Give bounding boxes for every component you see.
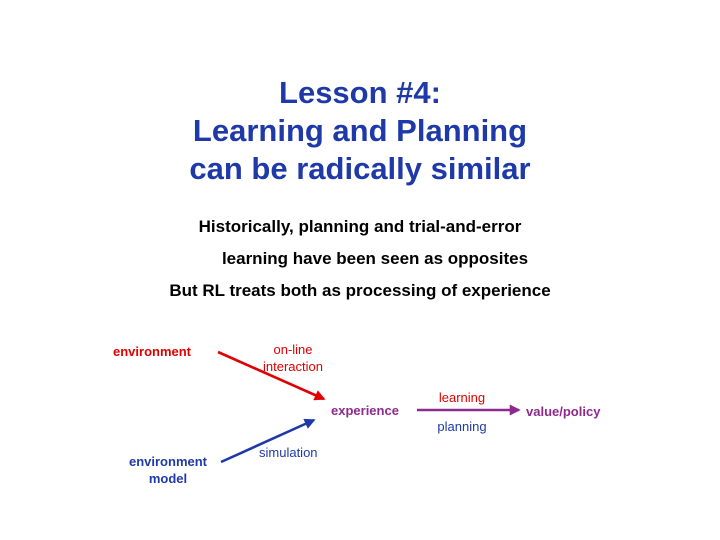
- edge-label-simulation: simulation: [259, 444, 318, 461]
- edge-label-online-interaction-line2: interaction: [247, 358, 339, 375]
- edge-label-online-interaction: on-line interaction: [247, 341, 339, 375]
- node-label-environment-model: environment model: [113, 453, 223, 487]
- edge-label-learning: learning: [429, 389, 495, 406]
- node-label-environment-model-line2: model: [113, 470, 223, 487]
- node-label-environment-model-line1: environment: [113, 453, 223, 470]
- experience-flow-diagram: environment on-line interaction experien…: [0, 0, 720, 540]
- diagram-arrows-layer: [0, 0, 720, 540]
- slide-canvas: Lesson #4: Learning and Planning can be …: [0, 0, 720, 540]
- edge-label-online-interaction-line1: on-line: [247, 341, 339, 358]
- edge-label-planning: planning: [429, 418, 495, 435]
- node-label-value-policy: value/policy: [526, 403, 600, 420]
- node-label-environment: environment: [113, 343, 191, 360]
- node-label-experience: experience: [331, 402, 399, 419]
